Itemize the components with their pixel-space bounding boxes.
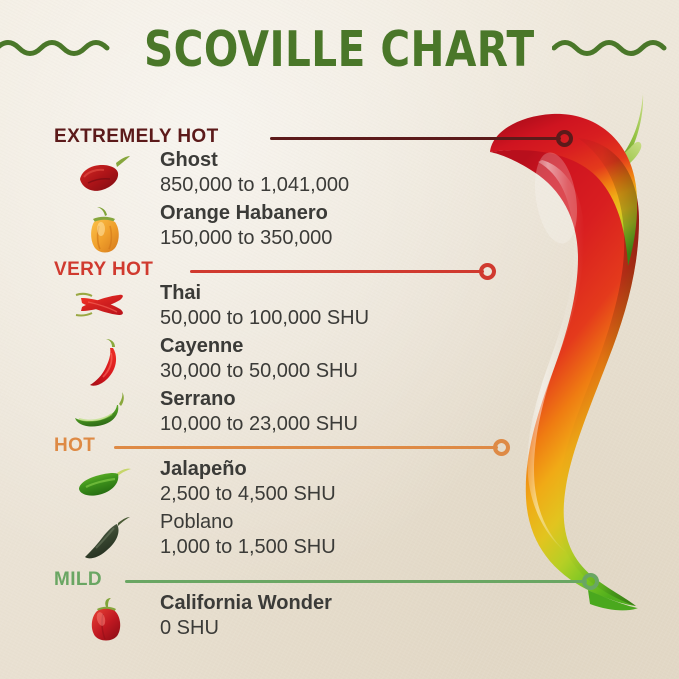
category-label-extremely-hot: EXTREMELY HOT xyxy=(54,124,219,150)
wave-line-icon-right xyxy=(552,34,679,65)
connector-dot-extremely-hot xyxy=(556,130,573,147)
list-item: Orange Habanero 150,000 to 350,000 xyxy=(0,203,440,256)
pepper-name: Serrano xyxy=(160,387,358,412)
pepper-info: Serrano 10,000 to 23,000 SHU xyxy=(160,387,358,437)
list-item: Ghost 850,000 to 1,041,000 xyxy=(0,150,440,203)
wave-line-icon-left xyxy=(0,34,127,65)
category-label-hot: HOT xyxy=(54,433,95,459)
pepper-scoville-range: 30,000 to 50,000 SHU xyxy=(160,359,358,384)
pepper-info: California Wonder 0 SHU xyxy=(160,591,332,641)
pepper-name: Ghost xyxy=(160,148,349,173)
page-title: SCOVILLE CHART xyxy=(144,25,535,74)
list-item: Poblano 1,000 to 1,500 SHU xyxy=(0,512,440,565)
category-mild: MILD xyxy=(0,567,679,593)
pepper-info: Ghost 850,000 to 1,041,000 xyxy=(160,148,349,198)
orange-habanero-icon xyxy=(80,205,142,255)
pepper-info: Cayenne 30,000 to 50,000 SHU xyxy=(160,334,358,384)
pepper-list-very-hot: Thai 50,000 to 100,000 SHU xyxy=(0,283,440,442)
pepper-name: Orange Habanero xyxy=(160,201,332,226)
connector-dot-hot xyxy=(493,439,510,456)
pepper-name: California Wonder xyxy=(160,591,332,616)
pepper-info: Thai 50,000 to 100,000 SHU xyxy=(160,281,369,331)
pepper-info: Poblano 1,000 to 1,500 SHU xyxy=(160,510,336,560)
thai-chili-icon xyxy=(72,285,134,335)
list-item: Cayenne 30,000 to 50,000 SHU xyxy=(0,336,440,389)
pepper-name: Jalapeño xyxy=(160,457,336,482)
pepper-name: Cayenne xyxy=(160,334,358,359)
connector-line-mild xyxy=(125,580,587,583)
pepper-list-mild: California Wonder 0 SHU xyxy=(0,593,440,646)
category-header: VERY HOT xyxy=(0,257,679,283)
bell-pepper-icon xyxy=(84,597,146,647)
list-item: Thai 50,000 to 100,000 SHU xyxy=(0,283,440,336)
pepper-scoville-range: 1,000 to 1,500 SHU xyxy=(160,535,336,560)
category-very-hot: VERY HOT xyxy=(0,257,679,283)
category-extremely-hot: EXTREMELY HOT xyxy=(0,124,679,150)
chart-header: SCOVILLE CHART xyxy=(0,18,679,80)
cayenne-pepper-icon xyxy=(82,338,144,388)
connector-dot-mild xyxy=(582,573,599,590)
poblano-pepper-icon xyxy=(76,514,138,564)
category-label-mild: MILD xyxy=(54,567,102,593)
connector-line-hot xyxy=(114,446,498,449)
scoville-chart-infographic: SCOVILLE CHART xyxy=(0,0,679,679)
pepper-scoville-range: 150,000 to 350,000 xyxy=(160,226,332,251)
connector-dot-very-hot xyxy=(479,263,496,280)
large-chili-pepper-gradient-icon xyxy=(430,78,679,638)
jalapeno-pepper-icon xyxy=(74,461,136,511)
pepper-info: Orange Habanero 150,000 to 350,000 xyxy=(160,201,332,251)
category-label-very-hot: VERY HOT xyxy=(54,257,153,283)
pepper-list-hot: Jalapeño 2,500 to 4,500 SHU xyxy=(0,459,440,565)
ghost-pepper-icon xyxy=(72,152,134,202)
list-item: Jalapeño 2,500 to 4,500 SHU xyxy=(0,459,440,512)
category-header: HOT xyxy=(0,433,679,459)
category-header: EXTREMELY HOT xyxy=(0,124,679,150)
pepper-name: Poblano xyxy=(160,510,336,535)
pepper-list-extremely-hot: Ghost 850,000 to 1,041,000 xyxy=(0,150,440,256)
pepper-name: Thai xyxy=(160,281,369,306)
pepper-info: Jalapeño 2,500 to 4,500 SHU xyxy=(160,457,336,507)
pepper-scoville-range: 0 SHU xyxy=(160,616,332,641)
category-header: MILD xyxy=(0,567,679,593)
pepper-scoville-range: 850,000 to 1,041,000 xyxy=(160,173,349,198)
list-item: California Wonder 0 SHU xyxy=(0,593,440,646)
connector-line-very-hot xyxy=(190,270,484,273)
category-hot: HOT xyxy=(0,433,679,459)
connector-line-extremely-hot xyxy=(270,137,561,140)
pepper-scoville-range: 2,500 to 4,500 SHU xyxy=(160,482,336,507)
pepper-scoville-range: 50,000 to 100,000 SHU xyxy=(160,306,369,331)
